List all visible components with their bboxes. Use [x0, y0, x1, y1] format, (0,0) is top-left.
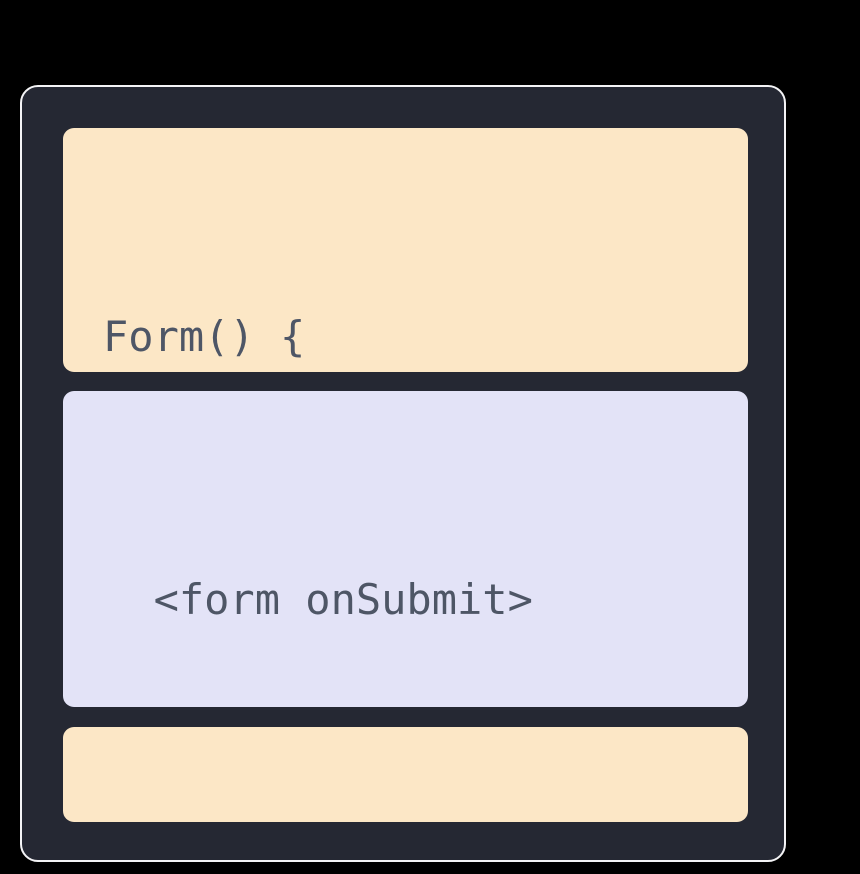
code-card: Form() { onClick() {...} onSubmit() {...…	[20, 85, 786, 862]
code-block-jsx-markup: <form onSubmit> <input onClick /> <input…	[63, 391, 748, 707]
code-line: Form() {	[103, 300, 748, 372]
code-block-function-signature: Form() { onClick() {...} onSubmit() {...…	[63, 128, 748, 372]
code-block-closing-brace: }	[63, 727, 748, 822]
screenshot-canvas: Form() { onClick() {...} onSubmit() {...…	[0, 0, 860, 874]
code-line: <form onSubmit>	[103, 563, 748, 637]
